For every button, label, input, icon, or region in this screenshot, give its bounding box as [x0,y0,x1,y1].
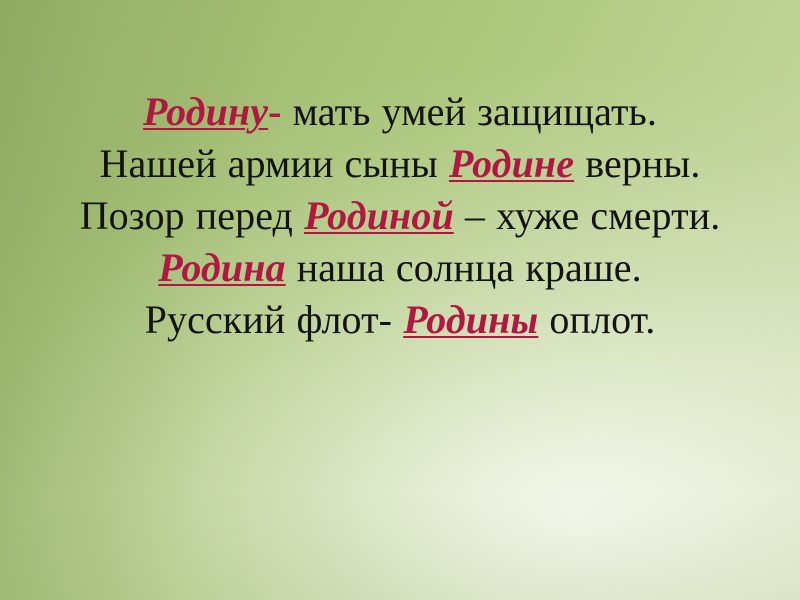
proverb-line-2: Нашей армии сыны Родине верны. [40,138,760,190]
proverb-line-5: Русский флот- Родины оплот. [40,294,760,346]
proverb-text-5-rest: оплот. [538,297,655,342]
proverb-text-2-rest: верны. [574,141,700,186]
keyword-rodiny: Родины [403,297,538,342]
keyword-hyphen-1: - [268,89,281,134]
proverb-line-1: Родину- мать умей защищать. [40,86,760,138]
keyword-rodinu: Родину [143,89,268,134]
proverb-text-5-before: Русский флот- [145,297,404,342]
proverb-line-3: Позор перед Родиной – хуже смерти. [40,190,760,242]
keyword-rodine: Родине [449,141,574,186]
proverb-list: Родину- мать умей защищать. Нашей армии … [0,86,800,346]
keyword-rodinoy: Родиной [304,193,454,238]
proverb-text-3-before: Позор перед [80,193,304,238]
keyword-rodina: Родина [158,245,285,290]
proverb-text-1: мать умей защищать. [282,89,657,134]
proverb-text-2-before: Нашей армии сыны [99,141,449,186]
slide-canvas: Родину- мать умей защищать. Нашей армии … [0,0,800,600]
proverb-line-4: Родина наша солнца краше. [40,242,760,294]
proverb-text-3-rest: – хуже смерти. [454,193,721,238]
proverb-text-4-rest: наша солнца краше. [286,245,642,290]
